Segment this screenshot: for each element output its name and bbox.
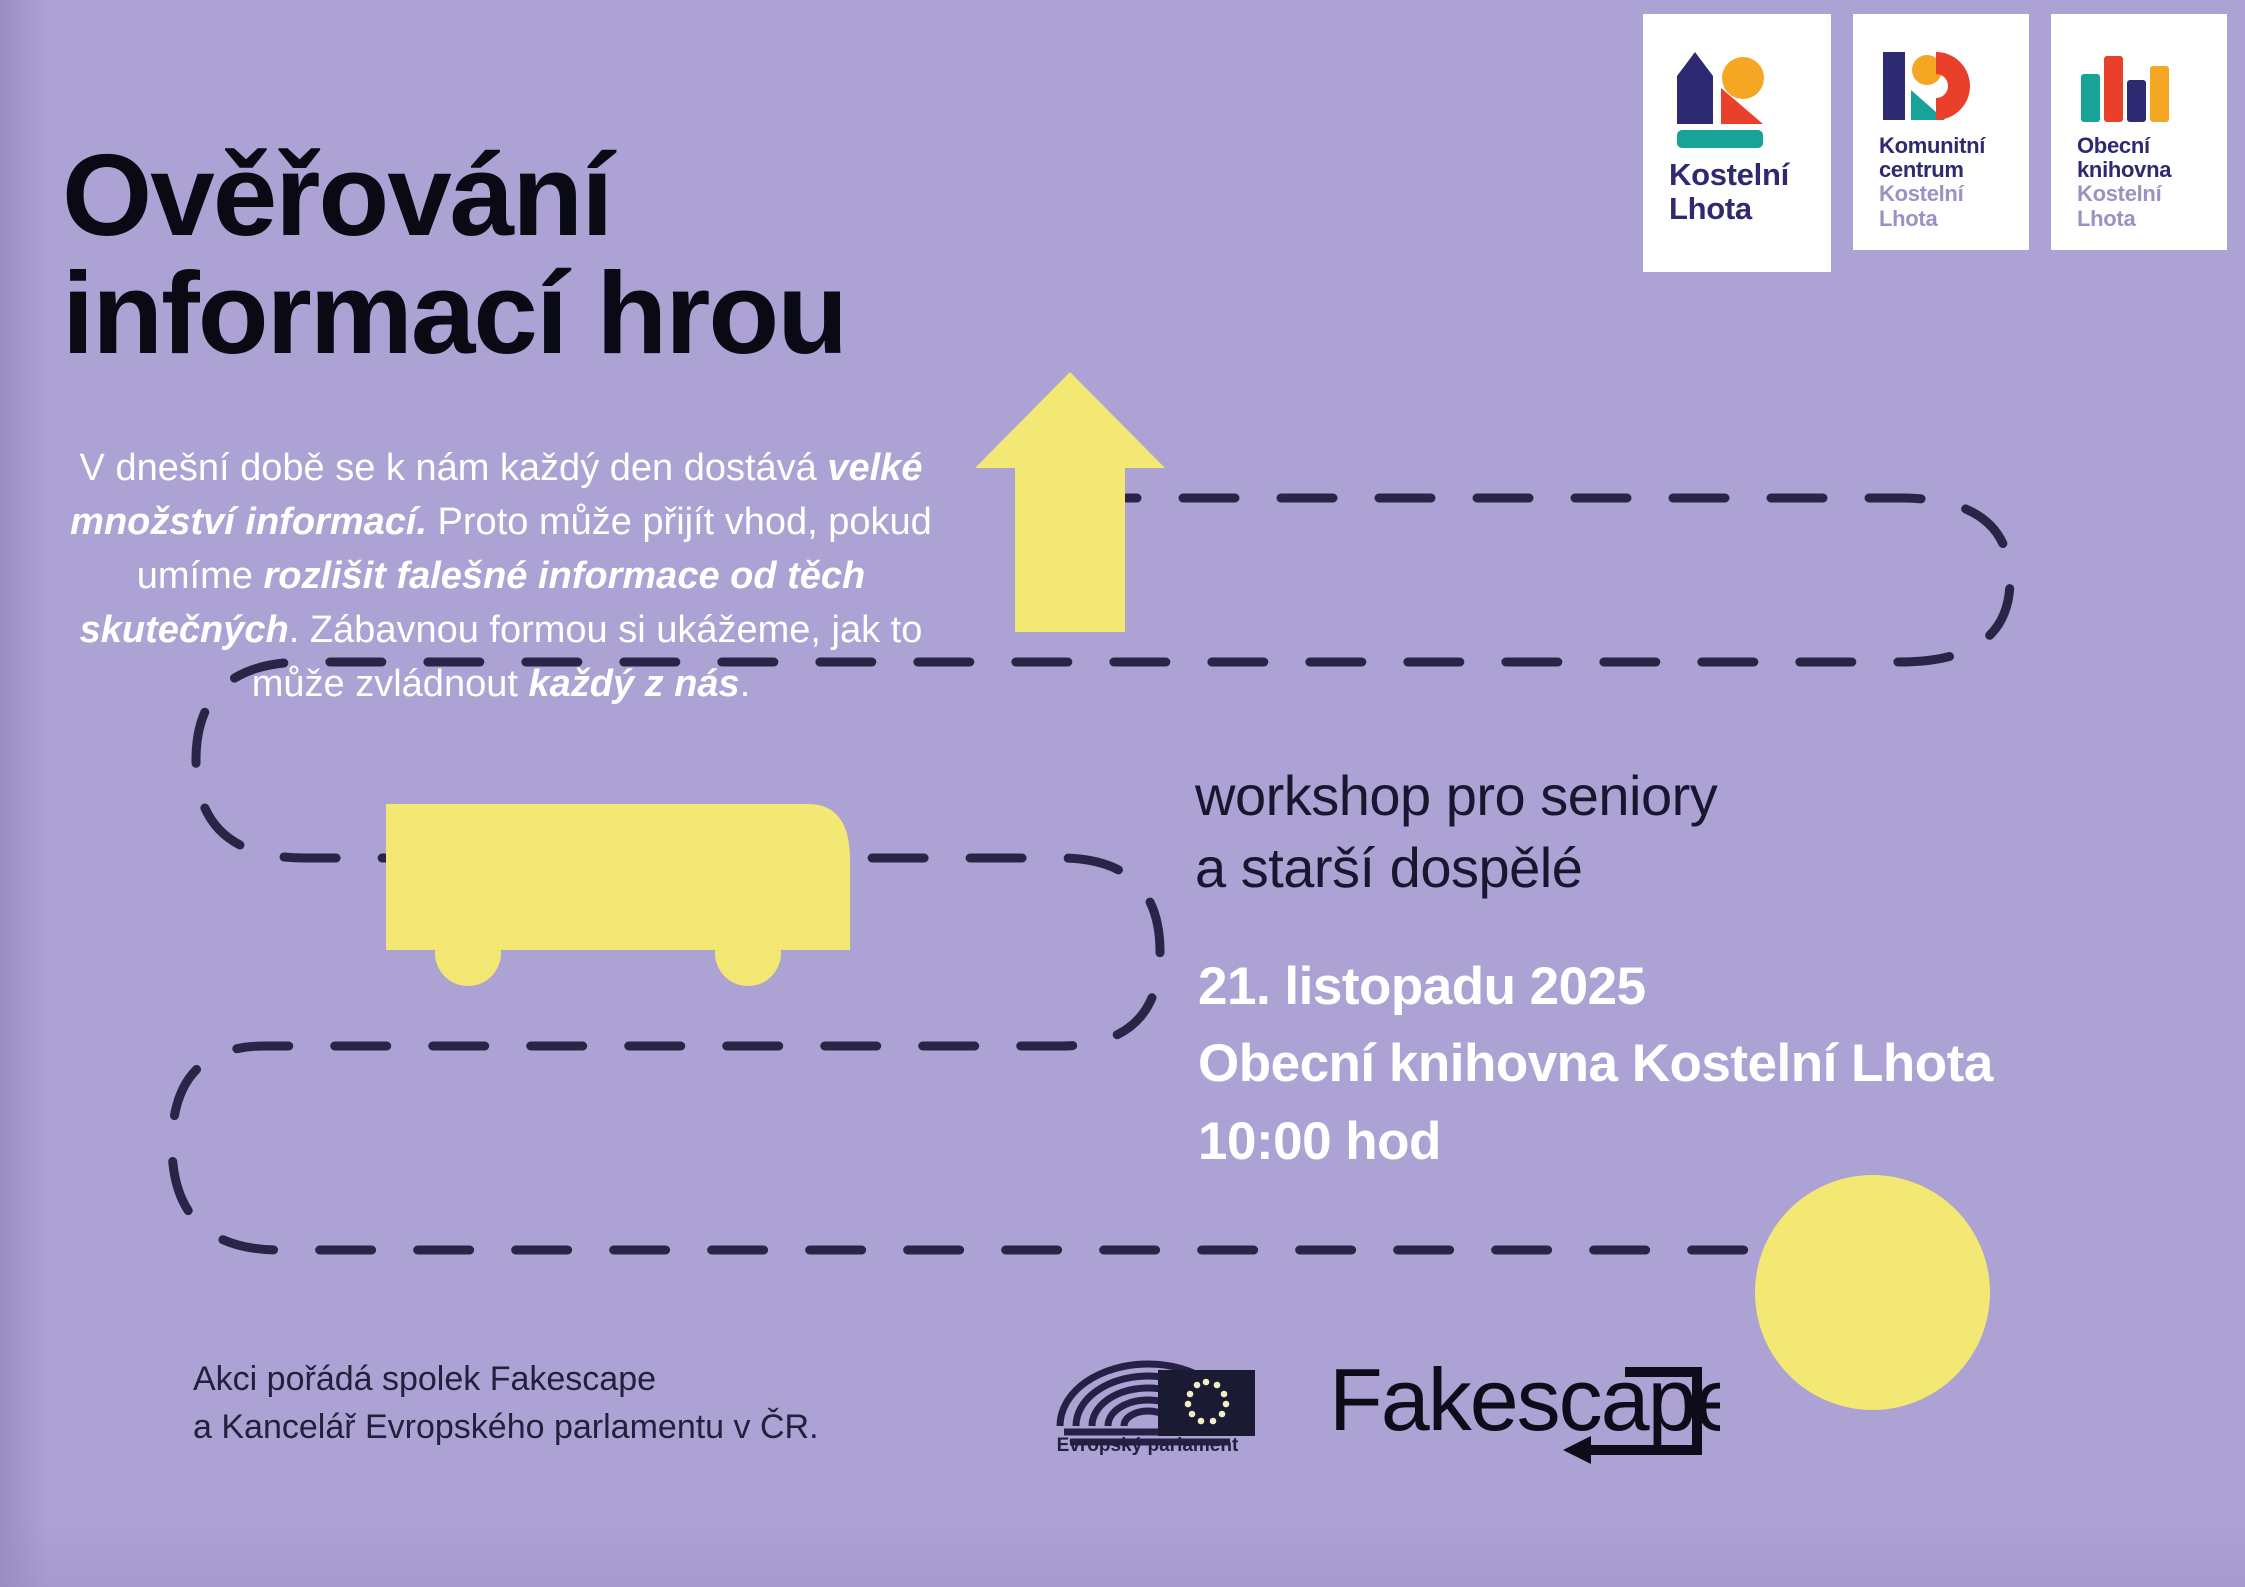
intro-paragraph: V dnešní době se k nám každý den dostává… [46, 442, 956, 712]
headline-line-1: Ověřování [62, 130, 611, 260]
arrow-up-house-icon [975, 372, 1165, 632]
obecni-knihovna-mark-icon [2077, 48, 2177, 124]
komunitni-centrum-sub-2: Lhota [1879, 207, 1937, 231]
workshop-line-1: workshop pro seniory [1195, 760, 1717, 832]
intro-text: . [740, 663, 751, 705]
bus-icon [378, 790, 878, 990]
fakescape-logo-icon: Fakescape. [1325, 1348, 1720, 1468]
intro-text: V dnešní době se k nám každý den dostává [80, 447, 828, 489]
partner-logos: Kostelní Lhota Komunitní centrum Kosteln… [1643, 14, 2227, 272]
obecni-knihovna-sub-2: Lhota [2077, 207, 2135, 231]
event-details: 21. listopadu 2025 Obecní knihovna Koste… [1198, 948, 1993, 1180]
logo-card-komunitni-centrum: Komunitní centrum Kostelní Lhota [1853, 14, 2029, 250]
komunitni-centrum-mark-icon [1879, 48, 1975, 124]
intro-emphasis: každý z nás [528, 663, 739, 705]
poster-canvas: Ověřování informací hrou V dnešní době s… [0, 0, 2245, 1587]
european-parliament-caption: Evropský parlament [1040, 1435, 1255, 1457]
svg-text:Fakescape.: Fakescape. [1329, 1350, 1720, 1449]
kostelni-lhota-mark-icon [1669, 38, 1789, 148]
headline-line-2: informací hrou [62, 254, 1162, 372]
obecni-knihovna-title-1: Obecní [2077, 134, 2150, 158]
obecni-knihovna-sub-1: Kostelní [2077, 182, 2161, 206]
kostelni-lhota-title-1: Kostelní [1669, 158, 1789, 192]
event-venue: Obecní knihovna Kostelní Lhota [1198, 1025, 1993, 1102]
kostelni-lhota-title-2: Lhota [1669, 192, 1752, 226]
workshop-audience: workshop pro seniory a starší dospělé [1195, 760, 1717, 903]
sun-circle-icon [1755, 1175, 1990, 1410]
logo-card-kostelni-lhota: Kostelní Lhota [1643, 14, 1831, 272]
page-title: Ověřování informací hrou [62, 136, 1162, 373]
komunitni-centrum-title-2: centrum [1879, 158, 1964, 182]
event-date: 21. listopadu 2025 [1198, 948, 1993, 1025]
komunitni-centrum-sub-1: Kostelní [1879, 182, 1963, 206]
credit-line-2: a Kancelář Evropského parlamentu v ČR. [193, 1403, 819, 1451]
workshop-line-2: a starší dospělé [1195, 832, 1717, 904]
obecni-knihovna-title-2: knihovna [2077, 158, 2171, 182]
logo-card-obecni-knihovna: Obecní knihovna Kostelní Lhota [2051, 14, 2227, 250]
event-time: 10:00 hod [1198, 1103, 1993, 1180]
komunitni-centrum-title-1: Komunitní [1879, 134, 1985, 158]
organizer-credit: Akci pořádá spolek Fakescape a Kancelář … [193, 1355, 819, 1452]
credit-line-1: Akci pořádá spolek Fakescape [193, 1355, 819, 1403]
